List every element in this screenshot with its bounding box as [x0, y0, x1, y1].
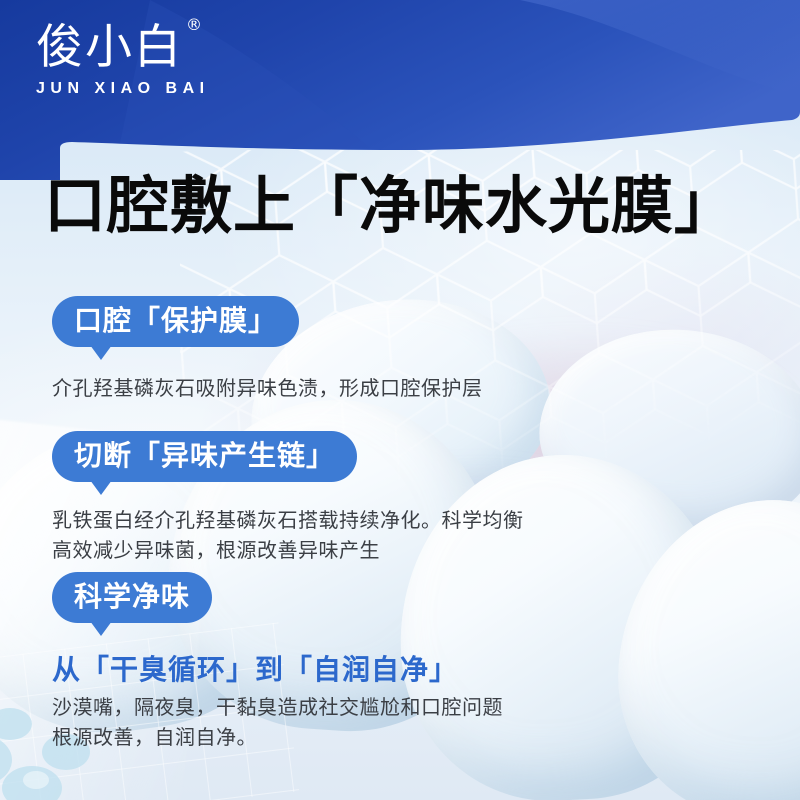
feature-description-3: 沙漠嘴，隔夜臭，干黏臭造成社交尴尬和口腔问题 根源改善，自润自净。	[52, 692, 503, 753]
feature-description-3-line-1: 沙漠嘴，隔夜臭，干黏臭造成社交尴尬和口腔问题	[52, 692, 503, 722]
brand-logo-english: JUN XIAO BAI	[36, 80, 236, 98]
page-title: 口腔敷上「净味水光膜」	[44, 172, 737, 240]
feature-description-2-line-2: 高效减少异味菌，根源改善异味产生	[52, 535, 524, 565]
feature-description-2: 乳铁蛋白经介孔羟基磷灰石搭载持续净化。科学均衡 高效减少异味菌，根源改善异味产生	[52, 505, 524, 566]
feature-description-1: 介孔羟基磷灰石吸附异味色渍，形成口腔保护层	[52, 373, 483, 403]
feature-badge-odor-chain: 切断「异味产生链」	[52, 431, 357, 482]
feature-description-3-line-2: 根源改善，自润自净。	[52, 722, 503, 752]
feature-badge-protective-film: 口腔「保护膜」	[52, 296, 299, 347]
feature-description-2-line-1: 乳铁蛋白经介孔羟基磷灰石搭载持续净化。科学均衡	[52, 505, 524, 535]
brand-logo-chinese-text: 俊小白	[36, 20, 183, 75]
brand-logo-chinese: 俊小白®	[36, 24, 236, 71]
feature-badge-scientific-fresh: 科学净味	[52, 572, 212, 623]
promo-banner: 俊小白® JUN XIAO BAI 口腔敷上「净味水光膜」 口腔「保护膜」 介孔…	[0, 0, 800, 800]
feature-subheading-3: 从「干臭循环」到「自润自净」	[52, 648, 458, 688]
registered-trademark-icon: ®	[186, 15, 202, 34]
brand-logo: 俊小白® JUN XIAO BAI	[36, 24, 236, 116]
feature-description-1-line-1: 介孔羟基磷灰石吸附异味色渍，形成口腔保护层	[52, 373, 483, 403]
